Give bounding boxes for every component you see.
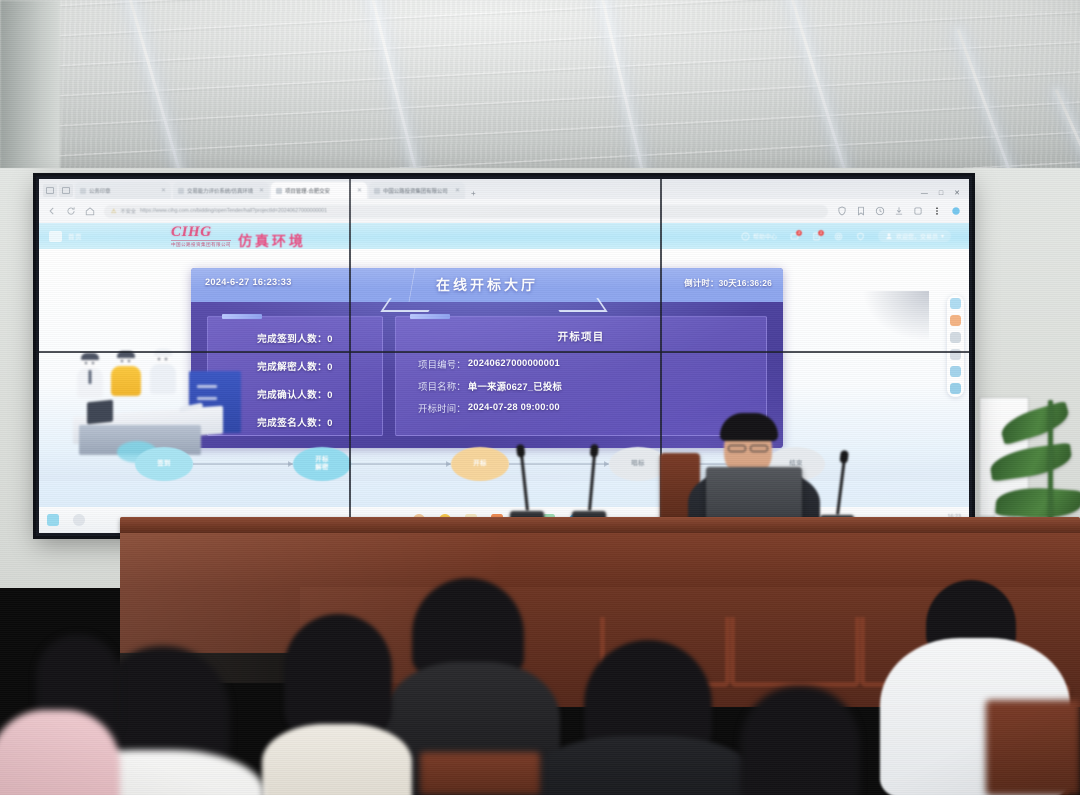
project-card-title: 开标项目 (396, 329, 766, 344)
tab-close-icon[interactable]: ✕ (455, 187, 460, 194)
conference-room-photo: 公务印章 ✕ 交易能力评价系统/仿真环境 ✕ 项目管理-合肥交安 ✕ (0, 0, 1080, 795)
hall-countdown: 倒计时：30天16:36:26 (684, 277, 772, 289)
browser-toolbar-icons (837, 206, 961, 216)
user-avatar-icon (885, 232, 893, 240)
home-label[interactable]: 首页 (68, 231, 82, 241)
eyeglasses (750, 445, 768, 452)
vertical-tabs-icon[interactable] (59, 184, 73, 197)
tab-title: 交易能力评价系统/仿真环境 (187, 187, 253, 195)
step-label: 开标 解密 (315, 456, 328, 472)
presenter-hair (720, 413, 778, 441)
chevron-down-icon: ▾ (941, 233, 944, 240)
audience-chair (986, 700, 1080, 795)
maximize-button[interactable]: □ (939, 190, 943, 197)
brand-cn: 仿真环境 (238, 234, 306, 248)
plant-leaf (988, 442, 1073, 481)
audience-member (262, 614, 412, 795)
presenter-laptop (706, 467, 802, 519)
audience-hair (584, 640, 712, 750)
history-icon[interactable] (875, 206, 885, 216)
tab-favicon (178, 188, 184, 194)
step-connector (193, 463, 293, 465)
nav-item-message[interactable]: 3 (790, 232, 799, 241)
audience-member (716, 686, 886, 795)
tab-favicon (276, 188, 282, 194)
top-icon[interactable] (950, 383, 961, 394)
brand-logo: CIHG 中国公路投资集团有限公司 仿真环境 (171, 225, 306, 248)
bookmark-icon[interactable] (856, 206, 866, 216)
audience-chair (420, 752, 540, 795)
left-wall (0, 0, 60, 190)
tab-overview-icon[interactable] (43, 184, 57, 197)
video-wall-seam (39, 351, 969, 353)
brand-en: CIHG (171, 225, 231, 240)
tab-favicon (80, 188, 86, 194)
message-badge: 3 (796, 230, 802, 236)
tab-title: 公务印章 (89, 187, 111, 195)
reload-icon[interactable] (66, 206, 76, 216)
user-menu[interactable]: 欢迎您，交易员 ▾ (878, 230, 951, 242)
eyeglasses (728, 445, 746, 452)
nav-item-help[interactable]: ? 帮助中心 (741, 232, 777, 241)
ceiling (0, 0, 1080, 176)
project-field-name: 项目名称：单一来源0627_已投标 (418, 379, 562, 393)
browser-tab[interactable]: 中国公路投资集团有限公司 ✕ (369, 182, 465, 199)
downloads-icon[interactable] (894, 206, 904, 216)
nav-item-label: 帮助中心 (753, 232, 777, 241)
plant-leaf (998, 401, 1072, 445)
nav-item-todo[interactable]: 1 (812, 232, 821, 241)
grid-icon[interactable] (49, 231, 62, 242)
illustration-person (147, 349, 179, 401)
illustration-monitor (87, 400, 113, 425)
project-field-time: 开标时间：2024-07-28 09:00:00 (418, 401, 560, 415)
browser-tab[interactable]: 交易能力评价系统/仿真环境 ✕ (173, 182, 269, 199)
shield-icon (856, 232, 865, 241)
step-signin[interactable]: 签到 (135, 447, 193, 481)
back-icon[interactable] (47, 206, 57, 216)
float-toolbar (947, 295, 964, 397)
ceiling-shading (0, 0, 1080, 176)
insecure-warning-icon: ⚠ (111, 208, 116, 215)
step-open[interactable]: 开标 (451, 447, 509, 481)
brand-en-sub: 中国公路投资集团有限公司 (171, 240, 231, 248)
site-home-group[interactable]: 首页 (49, 231, 82, 242)
browser-nav-row: ⚠ 不安全 https://www.cihg.com.cn/bidding/op… (39, 199, 969, 223)
nav-item-shield[interactable] (856, 232, 865, 241)
settings-icon (834, 232, 843, 241)
more-icon[interactable] (932, 206, 942, 216)
tab-favicon (374, 188, 380, 194)
tab-title: 项目管理-合肥交安 (285, 187, 330, 195)
step-label: 开标 (473, 460, 486, 468)
audience-hair (284, 614, 392, 736)
tab-title: 中国公路投资集团有限公司 (383, 187, 448, 195)
audience-member (0, 640, 120, 795)
browser-tab-strip: 公务印章 ✕ 交易能力评价系统/仿真环境 ✕ 项目管理-合肥交安 ✕ (39, 179, 969, 199)
browser-tab-active[interactable]: 项目管理-合肥交安 ✕ (271, 182, 367, 199)
home-icon[interactable] (85, 206, 95, 216)
step-label: 签到 (157, 460, 170, 468)
hall-illustration (61, 349, 231, 457)
address-bar[interactable]: ⚠ 不安全 https://www.cihg.com.cn/bidding/op… (104, 205, 828, 218)
todo-badge: 1 (818, 230, 824, 236)
service-icon[interactable] (950, 366, 961, 377)
help-icon: ? (741, 232, 750, 241)
hot-icon[interactable] (950, 315, 961, 326)
browser-tab[interactable]: 公务印章 ✕ (75, 182, 171, 199)
profile-icon[interactable] (951, 206, 961, 216)
hall-notch-left (385, 298, 433, 312)
new-tab-button[interactable]: + (467, 189, 480, 199)
project-field-code: 项目编号：20240627000000001 (418, 357, 560, 371)
stat-checkin: 完成签到人数：0 (208, 331, 382, 345)
site-nav: ? 帮助中心 3 1 (741, 230, 959, 242)
tab-close-icon[interactable]: ✕ (259, 187, 264, 194)
audience-hair (740, 686, 860, 795)
shield-icon[interactable] (837, 206, 847, 216)
chat-icon[interactable] (950, 298, 961, 309)
step-label: 唱标 (631, 460, 644, 468)
download-icon[interactable] (950, 332, 961, 343)
window-controls: — □ ✕ (921, 189, 969, 199)
step-announce[interactable]: 唱标 (609, 447, 667, 481)
security-label: 不安全 (120, 208, 136, 215)
extensions-icon[interactable] (913, 206, 923, 216)
hall-notch-right (555, 298, 603, 312)
nav-item-settings[interactable] (834, 232, 843, 241)
video-wall-seam (349, 179, 351, 533)
svg-text:?: ? (744, 234, 747, 239)
audience-torso (262, 724, 412, 795)
todo-icon: 1 (812, 232, 821, 241)
step-connector (351, 463, 451, 465)
address-value: https://www.cihg.com.cn/bidding/openTend… (140, 208, 327, 214)
video-wall: 公务印章 ✕ 交易能力评价系统/仿真环境 ✕ 项目管理-合肥交安 ✕ (36, 176, 972, 536)
step-decrypt[interactable]: 开标 解密 (293, 447, 351, 481)
illustration-person (109, 351, 143, 401)
browser-chrome: 公务印章 ✕ 交易能力评价系统/仿真环境 ✕ 项目管理-合肥交安 ✕ (39, 179, 969, 223)
tab-close-icon[interactable]: ✕ (161, 187, 166, 194)
audience-hair (412, 578, 524, 674)
tab-close-icon[interactable]: ✕ (357, 187, 362, 194)
user-label: 欢迎您，交易员 (896, 232, 938, 241)
message-icon: 3 (790, 232, 799, 241)
close-button[interactable]: ✕ (954, 189, 960, 197)
illustration-person (75, 353, 105, 401)
minimize-button[interactable]: — (921, 190, 928, 197)
